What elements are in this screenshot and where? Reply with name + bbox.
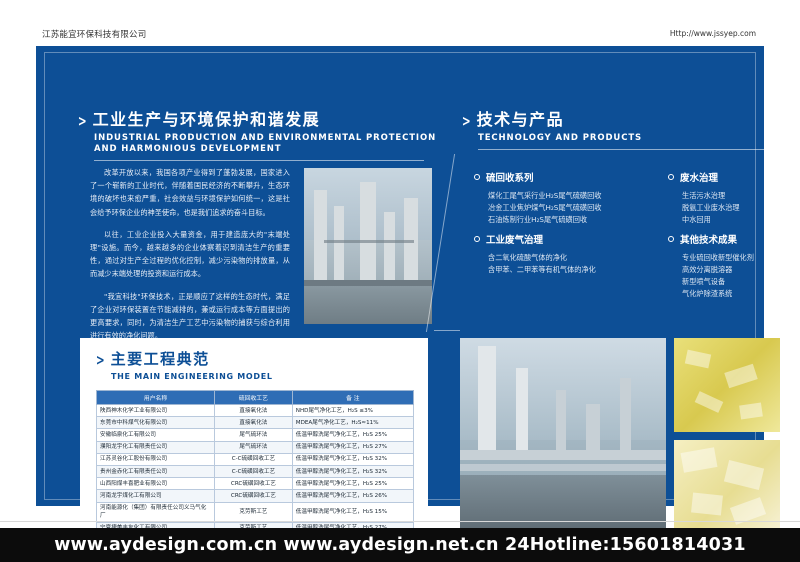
photo-group-bottom: [460, 338, 780, 534]
blue-poster-body: >工业生产与环境保护和谐发展 INDUSTRIAL PRODUCTION AND…: [36, 46, 764, 506]
list-item: 新型喷气设备: [682, 276, 788, 288]
circle-bullet-icon: [668, 174, 674, 180]
heading-left-en-2: AND HARMONIOUS DEVELOPMENT: [94, 144, 436, 155]
bottom-panel: >主要工程典范 THE MAIN ENGINEERING MODEL 用户名称 …: [80, 338, 780, 538]
poster-page: 江苏能宜环保科技有限公司 Http://www.jssyep.com >工业生产…: [0, 0, 800, 562]
engineering-table: 用户名称 硫回收工艺 备 注 陕西神木化学工业有限公司直接氧化法NHD尾气净化工…: [96, 390, 414, 535]
plant-photo-large: [460, 338, 666, 534]
heading-bottom-en: THE MAIN ENGINEERING MODEL: [111, 372, 273, 381]
table-row: 东莞市中科煤气化有限公司直接氧化法MDEA尾气净化工艺，H₂S≈11%: [97, 417, 414, 429]
photo-ground: [460, 475, 666, 534]
photo-ground: [304, 283, 432, 324]
factory-photo-left: [304, 168, 432, 324]
chevron-right-icon: >: [96, 351, 105, 369]
footer-contact-text: www.aydesign.com.cn www.aydesign.net.cn …: [0, 528, 800, 562]
circle-bullet-icon: [474, 236, 480, 242]
list-item: 气化炉除渣系统: [682, 288, 788, 300]
group-title: 其他技术成果: [668, 232, 788, 246]
flake-shape: [724, 364, 757, 388]
heading-right-underline: [478, 149, 778, 150]
list-item: 冶金工业焦炉煤气H₂S尾气硫磺回收: [488, 202, 654, 214]
tech-group-industrial-gas: 工业废气治理 含二氧化硫酸气体的净化 含甲苯、二甲苯等有机气体的净化: [474, 232, 654, 276]
heading-left-cn: 工业生产与环境保护和谐发展: [93, 110, 321, 129]
tech-group-other-results: 其他技术成果 专业硫回收新型催化剂 高效分离脱溶器 新型喷气设备 气化炉除渣系统: [668, 232, 788, 300]
flake-shape: [685, 350, 711, 369]
th-user-name: 用户名称: [97, 391, 215, 405]
table-row: 河南龙宇煤化工有限公司CRC硫磺回收工艺低温甲醇洗尾气净化工艺，H₂S 26%: [97, 490, 414, 502]
list-item: 含二氧化硫酸气体的净化: [488, 252, 654, 264]
flake-shape: [691, 492, 723, 515]
heading-right: >技术与产品 TECHNOLOGY AND PRODUCTS: [460, 106, 778, 150]
heading-left-en-1: INDUSTRIAL PRODUCTION AND ENVIRONMENTAL …: [94, 133, 436, 144]
circle-bullet-icon: [668, 236, 674, 242]
photo-pipeline: [460, 464, 666, 471]
group-items: 煤化工尾气采行业H₂S尾气硫磺回收 冶金工业焦炉煤气H₂S尾气硫磺回收 石油炼制…: [474, 190, 654, 226]
group-items: 含二氧化硫酸气体的净化 含甲苯、二甲苯等有机气体的净化: [474, 252, 654, 276]
flake-shape: [681, 447, 718, 473]
heading-bottom-cn: 主要工程典范: [111, 350, 210, 368]
group-items: 专业硫回收新型催化剂 高效分离脱溶器 新型喷气设备 气化炉除渣系统: [668, 252, 788, 300]
tech-group-sulfur-recovery: 硫回收系列 煤化工尾气采行业H₂S尾气硫磺回收 冶金工业焦炉煤气H₂S尾气硫磺回…: [474, 170, 654, 226]
footer-divider: [0, 521, 800, 522]
chevron-right-icon: >: [462, 112, 471, 130]
group-title: 硫回收系列: [474, 170, 654, 184]
photo-column: [620, 378, 631, 460]
company-name: 江苏能宜环保科技有限公司: [42, 28, 146, 40]
heading-left-underline: [94, 160, 424, 161]
group-title: 废水治理: [668, 170, 788, 184]
flake-shape: [739, 403, 763, 420]
engineering-model-card: >主要工程典范 THE MAIN ENGINEERING MODEL 用户名称 …: [80, 338, 428, 534]
paragraph: 改革开放以来，我国各项产业得到了蓬勃发展，国家进入了一个崭新的工业时代，伴随着国…: [90, 166, 290, 219]
paragraph: 以往，工业企业投入大量资金，用于建造庞大的"末端处理"设施。而今，越来越多的企业…: [90, 228, 290, 281]
table-row: 江苏灵谷化工股份有限公司C-C硫磺回收工艺低温甲醇洗尾气净化工艺，H₂S 32%: [97, 453, 414, 465]
photo-tower: [384, 212, 395, 286]
tech-group-wastewater: 废水治理 生活污水治理 脱氨工业废水治理 中水回用: [668, 170, 788, 226]
table-row: 安徽临泉化工有限公司尾气硫环法低温甲醇洗尾气净化工艺，H₂S 25%: [97, 429, 414, 441]
th-note: 备 注: [292, 391, 413, 405]
photo-chimney: [516, 368, 528, 458]
list-item: 脱氨工业废水治理: [682, 202, 788, 214]
sulfur-flakes-photo-top: [674, 338, 780, 432]
circle-bullet-icon: [474, 174, 480, 180]
photo-tower: [334, 206, 344, 286]
photo-pipe: [324, 240, 414, 243]
th-process: 硫回收工艺: [215, 391, 293, 405]
list-item: 中水回用: [682, 214, 788, 226]
table-header-row: 用户名称 硫回收工艺 备 注: [97, 391, 414, 405]
photo-column: [556, 390, 566, 460]
photo-chimney: [478, 346, 496, 456]
group-items: 生活污水治理 脱氨工业废水治理 中水回用: [668, 190, 788, 226]
flake-shape: [695, 391, 724, 413]
list-item: 含甲苯、二甲苯等有机气体的净化: [488, 264, 654, 276]
website-url-top: Http://www.jssyep.com: [670, 29, 756, 38]
heading-bottom: >主要工程典范 THE MAIN ENGINEERING MODEL: [94, 348, 273, 381]
paragraph: "我宜科技"环保技术，正是顺应了这样的生态时代，满足了企业对环保装置在节能减排的…: [90, 290, 290, 343]
divider-foot: [434, 330, 460, 331]
photo-platform: [304, 280, 432, 286]
list-item: 生活污水治理: [682, 190, 788, 202]
table-row: 河南能源化（集团）有限责任公司义马气化厂克劳斯工艺低温甲醇洗尾气净化工艺，H₂S…: [97, 502, 414, 522]
list-item: 石油炼制行业H₂S尾气硫磺回收: [488, 214, 654, 226]
table-row: 陕西神木化学工业有限公司直接氧化法NHD尾气净化工艺，H₂S ≤3%: [97, 405, 414, 417]
chevron-right-icon: >: [78, 112, 87, 130]
list-item: 高效分离脱溶器: [682, 264, 788, 276]
table-row: 濮阳龙宇化工有限责任公司尾气硫环法低温甲醇洗尾气净化工艺，H₂S 27%: [97, 441, 414, 453]
heading-right-cn: 技术与产品: [477, 110, 565, 129]
photo-column: [586, 404, 600, 460]
heading-left: >工业生产与环境保护和谐发展 INDUSTRIAL PRODUCTION AND…: [76, 106, 436, 161]
sulfur-flakes-photo-bottom: [674, 440, 780, 534]
heading-right-en: TECHNOLOGY AND PRODUCTS: [478, 133, 778, 144]
list-item: 专业硫回收新型催化剂: [682, 252, 788, 264]
table-row: 贵州金赤化工有限责任公司C-C硫磺回收工艺低温甲醇洗尾气净化工艺，H₂S 32%: [97, 465, 414, 477]
photo-tower: [314, 190, 327, 286]
flake-shape: [724, 460, 764, 490]
group-title: 工业废气治理: [474, 232, 654, 246]
list-item: 煤化工尾气采行业H₂S尾气硫磺回收: [488, 190, 654, 202]
photo-tower: [360, 182, 376, 286]
table-row: 山西阳煤丰喜肥业有限公司CRC硫磺回收工艺低温甲醇洗尾气净化工艺，H₂S 25%: [97, 478, 414, 490]
